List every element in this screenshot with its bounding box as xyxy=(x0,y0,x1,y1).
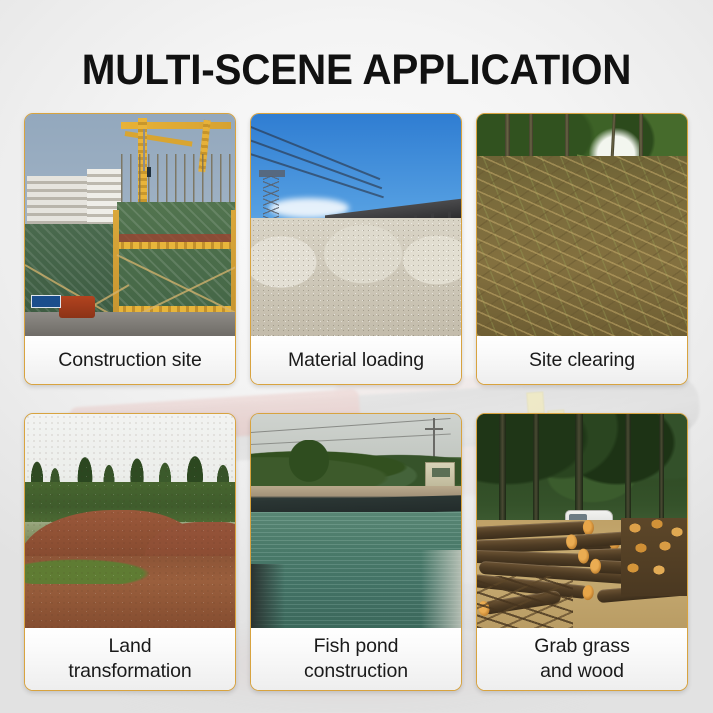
scene-card-land-transformation[interactable]: Land transformation xyxy=(24,413,236,691)
scene-card-grid: Construction site Material xyxy=(24,113,689,691)
scene-card-fish-pond-construction[interactable]: Fish pond construction xyxy=(250,413,462,691)
material-loading-photo xyxy=(251,114,461,336)
land-transformation-photo xyxy=(25,414,235,628)
construction-site-photo xyxy=(25,114,235,336)
scene-card-label: Grab grass and wood xyxy=(477,628,687,690)
site-clearing-photo xyxy=(477,114,687,336)
scene-card-material-loading[interactable]: Material loading xyxy=(250,113,462,385)
scene-card-label: Fish pond construction xyxy=(251,628,461,690)
scene-card-construction-site[interactable]: Construction site xyxy=(24,113,236,385)
grab-grass-and-wood-photo xyxy=(477,414,687,628)
fish-pond-construction-photo xyxy=(251,414,461,628)
scene-card-label: Land transformation xyxy=(25,628,235,690)
scene-card-grab-grass-and-wood[interactable]: Grab grass and wood xyxy=(476,413,688,691)
scene-card-label: Site clearing xyxy=(477,336,687,384)
scene-card-site-clearing[interactable]: Site clearing xyxy=(476,113,688,385)
scene-card-label: Material loading xyxy=(251,336,461,384)
scene-card-label: Construction site xyxy=(25,336,235,384)
page-title: MULTI-SCENE APPLICATION xyxy=(21,47,691,93)
